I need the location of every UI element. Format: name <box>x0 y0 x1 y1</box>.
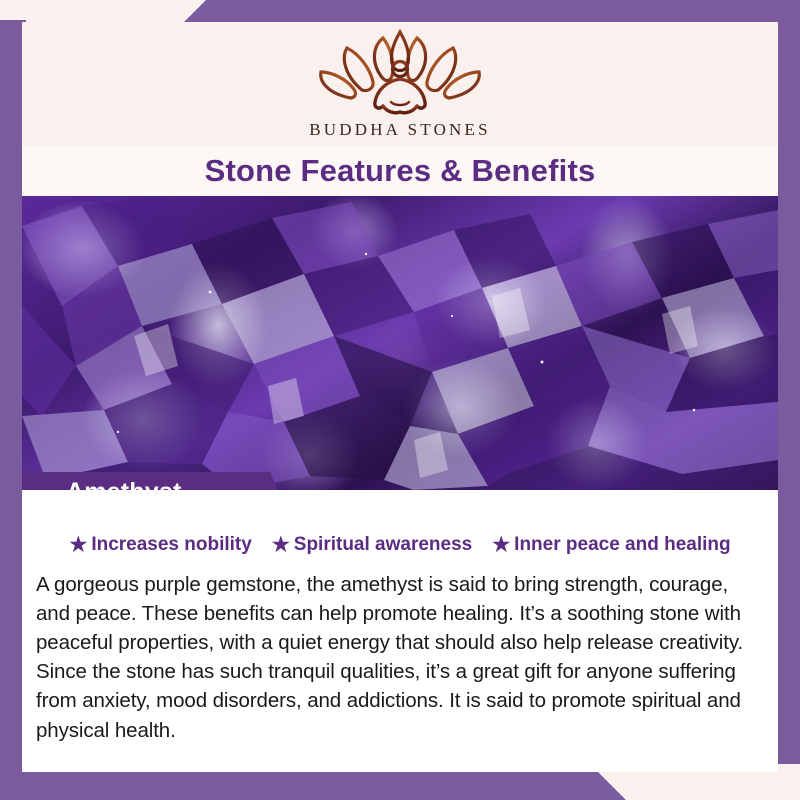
infographic-page: BUDDHA STONES Stone Features & Benefits <box>0 0 800 800</box>
star-icon: ★ <box>492 535 510 555</box>
benefit-item-2: ★ Spiritual awareness <box>272 534 472 556</box>
page-title: Stone Features & Benefits <box>205 153 596 189</box>
content-card: BUDDHA STONES Stone Features & Benefits <box>22 22 778 772</box>
benefit-item-3: ★ Inner peace and healing <box>492 534 730 556</box>
benefit-item-1: ★ Increases nobility <box>69 534 251 556</box>
benefit-label-2: Spiritual awareness <box>294 534 472 556</box>
benefit-label-3: Inner peace and healing <box>514 534 730 556</box>
brand-name: BUDDHA STONES <box>309 120 491 140</box>
title-band: Stone Features & Benefits <box>22 146 778 196</box>
brand-header: BUDDHA STONES <box>22 22 778 148</box>
benefit-label-1: Increases nobility <box>91 534 252 556</box>
stone-details-section: ★ Increases nobility ★ Spiritual awarene… <box>22 490 778 772</box>
star-icon: ★ <box>272 535 290 555</box>
stone-name-banner: Amethyst <box>22 472 287 490</box>
stone-description: A gorgeous purple gemstone, the amethyst… <box>36 570 764 745</box>
stone-name: Amethyst <box>66 478 182 491</box>
frame-bottom-bar <box>0 772 800 800</box>
benefits-list: ★ Increases nobility ★ Spiritual awarene… <box>22 490 778 556</box>
amethyst-crystal-photo: Amethyst <box>22 196 778 490</box>
star-icon: ★ <box>69 535 87 555</box>
lotus-meditation-figure-icon <box>305 26 495 118</box>
crystal-facets-overlay <box>22 196 778 490</box>
